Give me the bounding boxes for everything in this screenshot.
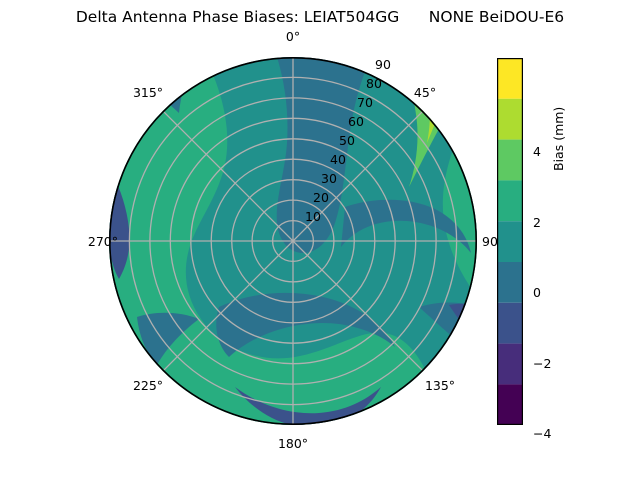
colorbar-band-1 xyxy=(497,344,523,385)
radial-tick-20: 20 xyxy=(313,190,329,205)
radial-tick-70: 70 xyxy=(357,95,373,110)
colorbar-axis-label: Bias (mm) xyxy=(551,145,566,171)
colorbar-band-2 xyxy=(497,303,523,344)
figure-title: Delta Antenna Phase Biases: LEIAT504GG N… xyxy=(0,8,640,26)
radial-tick-50: 50 xyxy=(339,133,355,148)
angular-tick-0: 0° xyxy=(263,29,323,44)
colorbar-band-3 xyxy=(497,262,523,303)
angular-tick-270: 270° xyxy=(62,234,118,249)
angular-tick-180: 180° xyxy=(263,436,323,451)
radial-tick-40: 40 xyxy=(330,152,346,167)
colorbar-band-5 xyxy=(497,180,523,221)
colorbar-band-7 xyxy=(497,99,523,140)
colorbar-band-6 xyxy=(497,140,523,181)
colorbar-tick-neg4: −4 xyxy=(533,426,551,441)
angular-tick-135: 135° xyxy=(412,378,468,393)
radial-tick-60: 60 xyxy=(348,114,364,129)
colorbar-axis-label-text: Bias (mm) xyxy=(551,145,566,171)
colorbar-band-4 xyxy=(497,221,523,262)
colorbar-tick-neg2: −2 xyxy=(533,356,551,371)
radial-tick-90: 90 xyxy=(375,57,391,72)
polar-contour-plot xyxy=(109,57,477,425)
angular-tick-45: 45° xyxy=(403,85,447,100)
figure-canvas: Delta Antenna Phase Biases: LEIAT504GG N… xyxy=(0,0,640,480)
angular-tick-315: 315° xyxy=(120,85,176,100)
colorbar-tick-4: 4 xyxy=(533,144,541,159)
colorbar-gradient xyxy=(497,58,523,425)
colorbar-tick-2: 2 xyxy=(533,215,541,230)
polar-axes: 10 20 30 40 50 60 70 80 90 xyxy=(109,57,477,425)
angular-tick-225: 225° xyxy=(120,378,176,393)
colorbar-tick-0: 0 xyxy=(533,285,541,300)
colorbar[interactable]: 4 2 0 −2 −4 xyxy=(497,58,523,425)
radial-tick-10: 10 xyxy=(305,209,321,224)
radial-tick-30: 30 xyxy=(321,171,337,186)
colorbar-band-8 xyxy=(497,58,523,99)
colorbar-band-0 xyxy=(497,384,523,425)
polar-grid xyxy=(109,57,477,425)
radial-tick-80: 80 xyxy=(366,76,382,91)
